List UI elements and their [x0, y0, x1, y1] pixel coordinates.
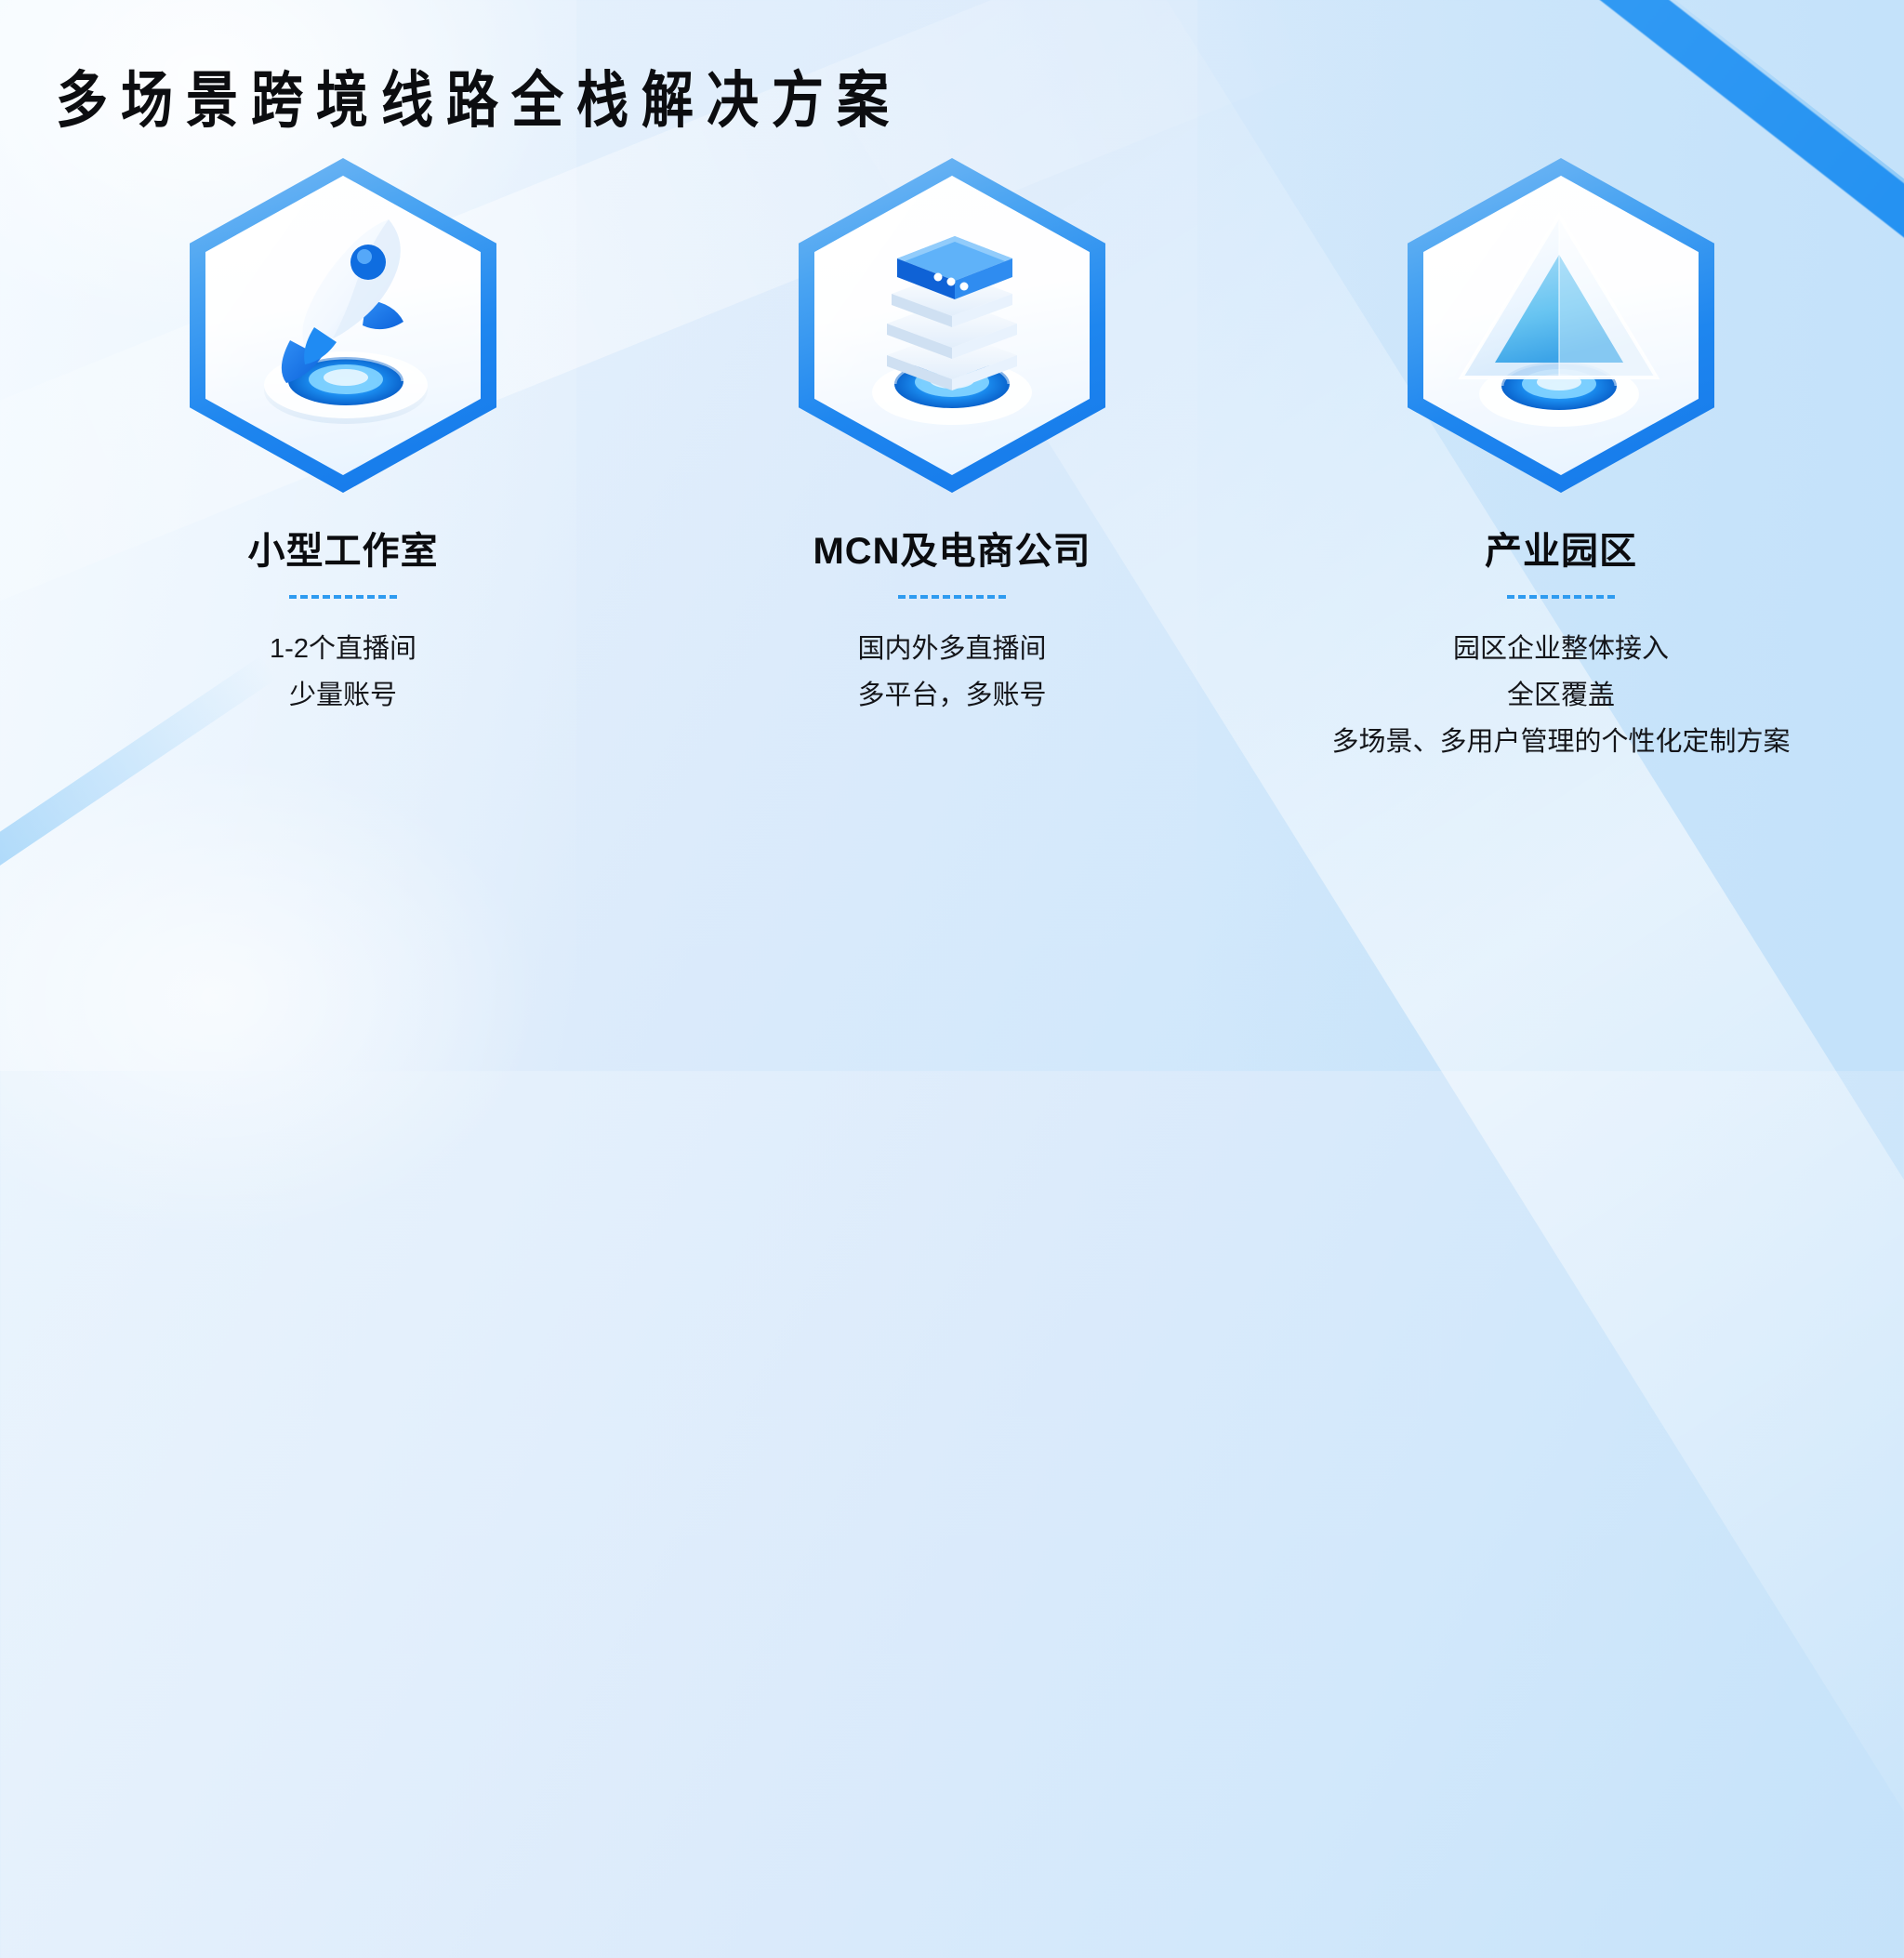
page-title: 多场景跨境线路全栈解决方案: [56, 51, 902, 140]
card-body-line: 1-2个直播间: [270, 627, 416, 673]
card-body: 1-2个直播间 少量账号: [270, 627, 416, 720]
rocket-icon: [190, 158, 496, 493]
pyramid-icon: [1408, 158, 1714, 493]
card-divider: [289, 595, 397, 599]
card-body-line: 园区企业整体接入: [1332, 627, 1791, 673]
card-body-line: 国内外多直播间: [857, 627, 1046, 673]
card-divider: [898, 595, 1006, 599]
card-body-line: 少量账号: [270, 673, 416, 720]
card-divider: [1507, 595, 1615, 599]
card-title: MCN及电商公司: [813, 521, 1091, 575]
hexagon-badge: [799, 158, 1105, 493]
card-title: 产业园区: [1485, 521, 1637, 575]
server-stack-icon: [799, 158, 1105, 493]
card-industrial-park[interactable]: 产业园区 园区企业整体接入 全区覆盖 多场景、多用户管理的个性化定制方案: [1342, 158, 1779, 766]
card-mcn-ecommerce[interactable]: MCN及电商公司 国内外多直播间 多平台，多账号: [734, 158, 1170, 720]
hexagon-badge: [1408, 158, 1714, 493]
card-body-line: 多平台，多账号: [857, 673, 1046, 720]
background-glow-bottom-left: [0, 755, 539, 1238]
hexagon-badge: [190, 158, 496, 493]
solution-cards-row: 小型工作室 1-2个直播间 少量账号: [0, 158, 1904, 766]
card-body: 国内外多直播间 多平台，多账号: [857, 627, 1046, 720]
card-small-studio[interactable]: 小型工作室 1-2个直播间 少量账号: [125, 158, 562, 720]
card-title: 小型工作室: [248, 521, 439, 575]
card-body-line: 全区覆盖: [1332, 673, 1791, 720]
card-body: 园区企业整体接入 全区覆盖 多场景、多用户管理的个性化定制方案: [1332, 627, 1791, 766]
card-body-line: 多场景、多用户管理的个性化定制方案: [1332, 720, 1791, 766]
